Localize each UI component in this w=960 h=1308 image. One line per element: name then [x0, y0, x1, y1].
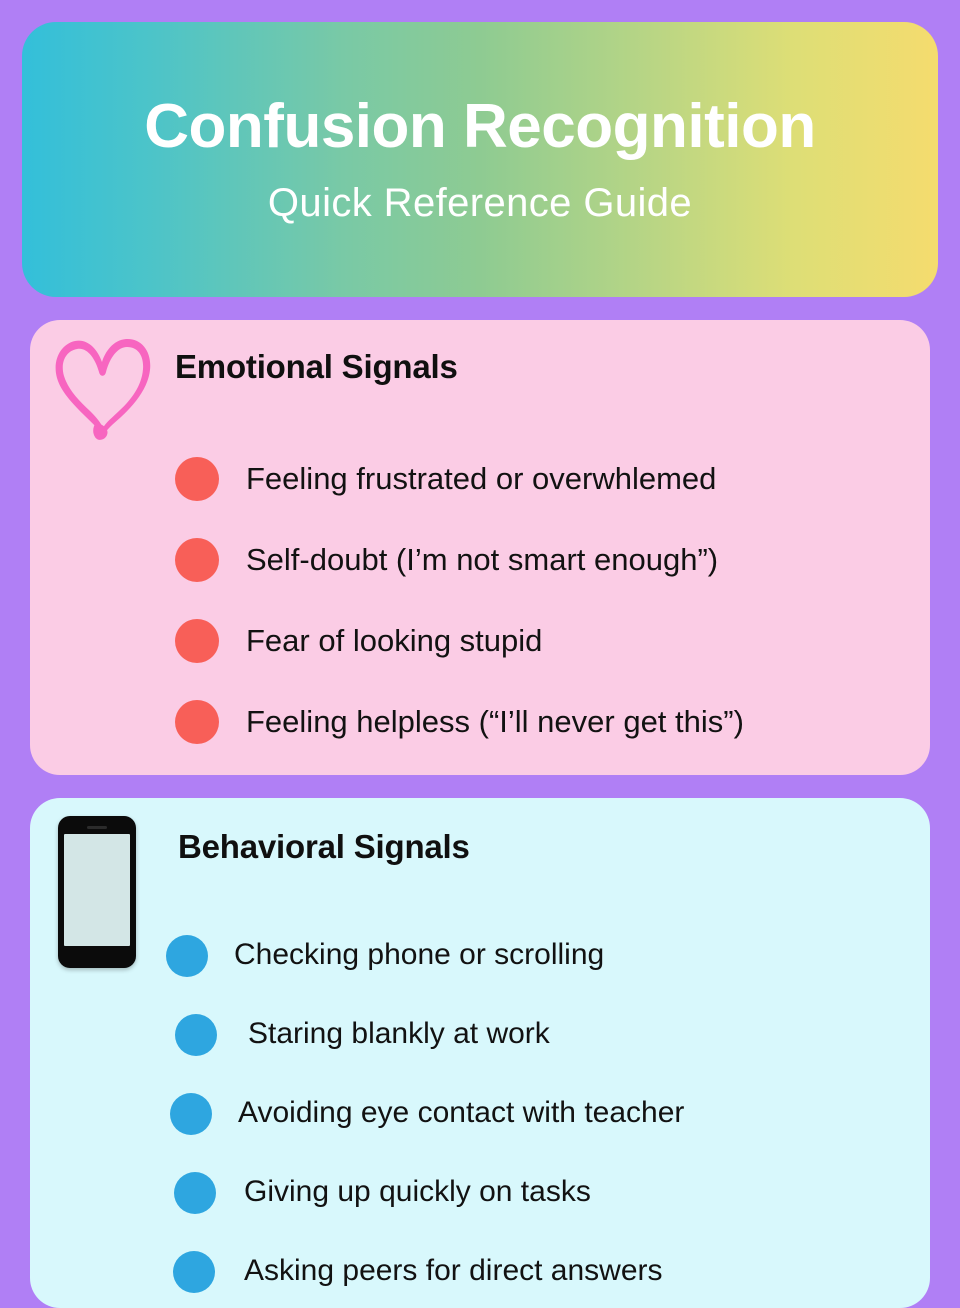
list-item-label: Self-doubt (I’m not smart enough”): [246, 542, 718, 578]
list-item: Self-doubt (I’m not smart enough”): [30, 519, 930, 600]
list-item: Feeling frustrated or overwhlemed: [30, 438, 930, 519]
list-item-label: Avoiding eye contact with teacher: [238, 1096, 684, 1131]
section-title-behavioral: Behavioral Signals: [178, 828, 470, 866]
heart-icon: [47, 332, 159, 440]
signal-list-behavioral: Checking phone or scrolling Staring blan…: [30, 916, 930, 1308]
section-title-emotional: Emotional Signals: [175, 348, 458, 386]
bullet-dot-icon: [173, 1251, 215, 1293]
section-header-emotional: Emotional Signals: [30, 320, 930, 416]
page-title: Confusion Recognition: [144, 94, 815, 159]
bullet-dot-icon: [175, 457, 219, 501]
list-item-label: Asking peers for direct answers: [244, 1254, 663, 1289]
bullet-dot-icon: [175, 1014, 217, 1056]
bullet-dot-icon: [175, 700, 219, 744]
signal-list-emotional: Feeling frustrated or overwhlemed Self-d…: [30, 438, 930, 762]
bullet-dot-icon: [166, 935, 208, 977]
list-item: Asking peers for direct answers: [30, 1232, 930, 1308]
section-card-emotional: Emotional Signals Feeling frustrated or …: [30, 320, 930, 775]
list-item: Feeling helpless (“I’ll never get this”): [30, 681, 930, 762]
list-item: Fear of looking stupid: [30, 600, 930, 681]
list-item: Checking phone or scrolling: [30, 916, 930, 995]
bullet-dot-icon: [174, 1172, 216, 1214]
list-item: Giving up quickly on tasks: [30, 1153, 930, 1232]
list-item: Staring blankly at work: [30, 995, 930, 1074]
poster-canvas: Confusion Recognition Quick Reference Gu…: [0, 0, 960, 1305]
bullet-dot-icon: [170, 1093, 212, 1135]
page-subtitle: Quick Reference Guide: [268, 181, 692, 225]
bullet-dot-icon: [175, 619, 219, 663]
smartphone-speaker: [87, 826, 107, 829]
list-item: Avoiding eye contact with teacher: [30, 1074, 930, 1153]
list-item-label: Giving up quickly on tasks: [244, 1175, 591, 1210]
section-card-behavioral: Behavioral Signals Checking phone or scr…: [30, 798, 930, 1308]
list-item-label: Staring blankly at work: [248, 1017, 550, 1052]
section-header-behavioral: Behavioral Signals: [30, 798, 930, 894]
list-item-label: Feeling frustrated or overwhlemed: [246, 461, 716, 497]
list-item-label: Fear of looking stupid: [246, 623, 542, 659]
bullet-dot-icon: [175, 538, 219, 582]
header-banner: Confusion Recognition Quick Reference Gu…: [22, 22, 938, 297]
list-item-label: Feeling helpless (“I’ll never get this”): [246, 704, 744, 740]
list-item-label: Checking phone or scrolling: [234, 938, 604, 973]
